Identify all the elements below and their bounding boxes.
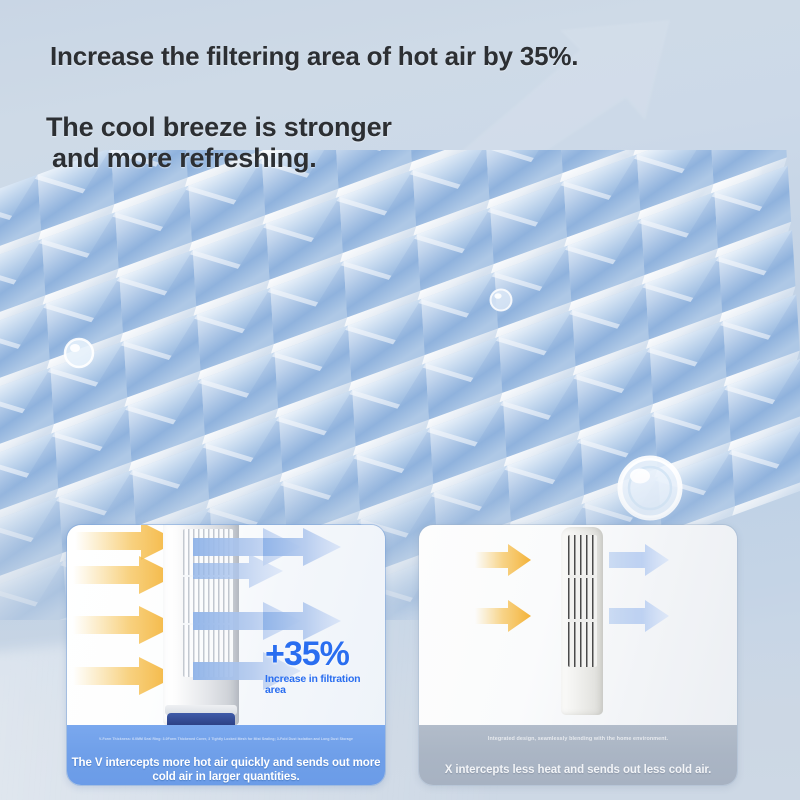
hot-air-arrow-icon	[475, 543, 531, 577]
cold-air-arrow-icon	[193, 553, 283, 589]
spec-band: V-Form Thickness: 6.0MM Seal Ring: 3.0Fo…	[67, 725, 385, 755]
spec-text: Integrated design, seamlessly blending w…	[488, 736, 668, 743]
cold-air-arrow-icon	[609, 543, 669, 577]
panel-caption: The V intercepts more hot air quickly an…	[67, 755, 385, 785]
comparison-panel-x-filter: Integrated design, seamlessly blending w…	[418, 524, 738, 786]
hot-air-arrow-icon	[73, 656, 177, 696]
caption-text: X intercepts less heat and sends out les…	[445, 763, 712, 777]
caption-text: The V intercepts more hot air quickly an…	[67, 756, 385, 784]
hot-air-arrow-icon	[475, 599, 531, 633]
water-droplet-icon	[488, 287, 514, 313]
hot-air-arrow-icon	[73, 605, 177, 645]
water-droplet-icon	[62, 336, 96, 370]
callout-label: Increase in filtration area	[265, 674, 383, 695]
filtration-increase-callout: +35% Increase in filtration area	[265, 637, 383, 695]
headline-line-2: The cool breeze is stronger	[46, 112, 392, 143]
spec-text: V-Form Thickness: 6.0MM Seal Ring: 3.0Fo…	[99, 737, 353, 742]
callout-value: +35%	[265, 637, 383, 671]
cold-air-arrow-icon	[609, 599, 669, 633]
panel-caption: X intercepts less heat and sends out les…	[419, 755, 737, 785]
fan-grille-seam	[568, 575, 597, 578]
headline-line-3: and more refreshing.	[52, 143, 317, 174]
fan-grille-seam	[568, 619, 597, 622]
fan-base	[167, 713, 235, 725]
spec-band: Integrated design, seamlessly blending w…	[419, 725, 737, 755]
comparison-panel-v-filter: +35% Increase in filtration area V-Form …	[66, 524, 386, 786]
headline-line-1: Increase the filtering area of hot air b…	[50, 41, 578, 72]
hot-air-arrow-icon	[73, 555, 177, 595]
panel-illustration-stage	[419, 525, 737, 725]
fan-grille	[568, 535, 597, 667]
tower-fan-product-slim	[561, 527, 603, 715]
panel-illustration-stage: +35% Increase in filtration area	[67, 525, 385, 725]
